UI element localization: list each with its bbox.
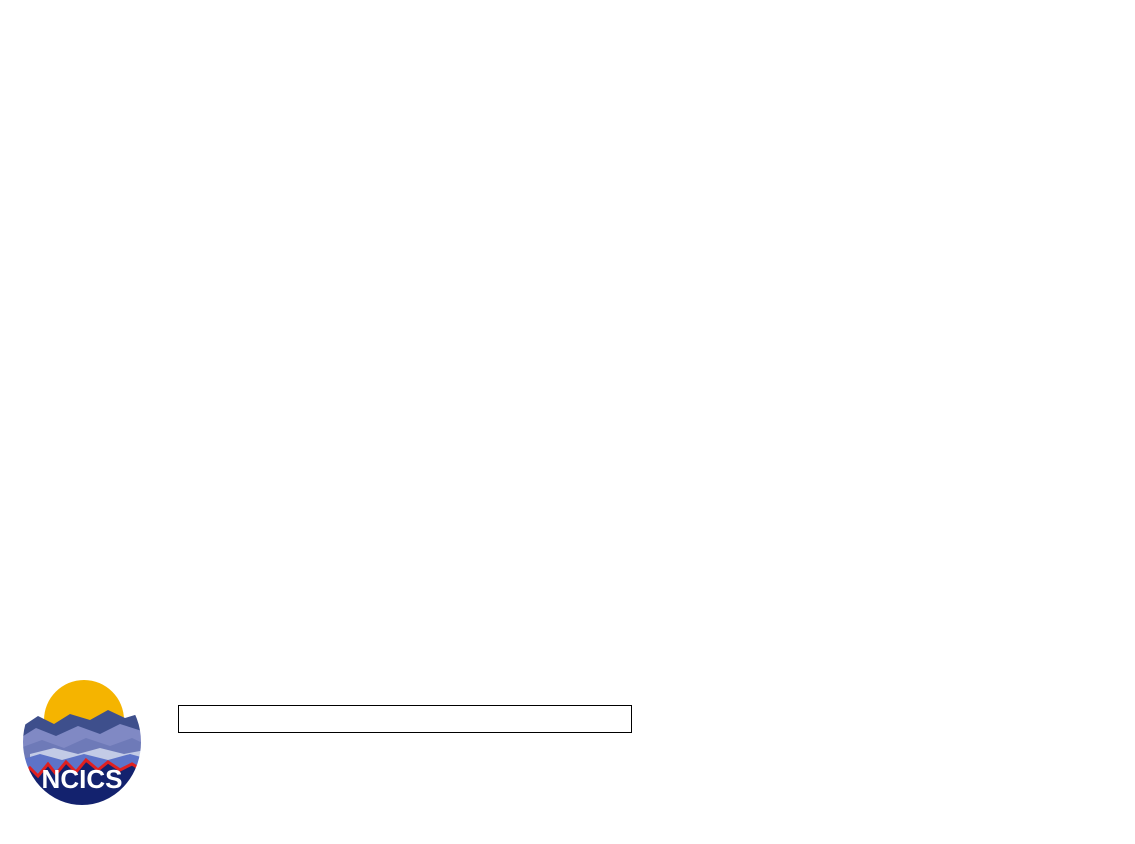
colorbar-tick-labels xyxy=(178,736,630,760)
logo-text: NCICS xyxy=(42,764,123,794)
contour-legend xyxy=(820,694,1135,754)
ncics-logo[interactable]: NCICS xyxy=(20,676,145,808)
colorbar xyxy=(178,705,632,733)
